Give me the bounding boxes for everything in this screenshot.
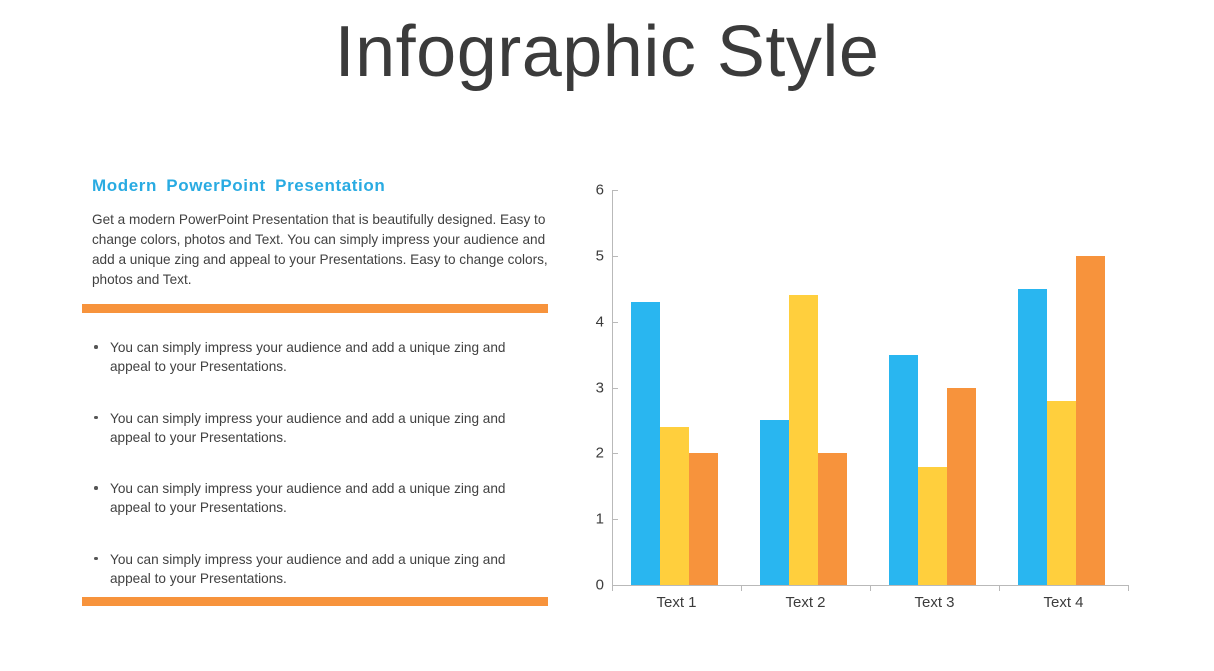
- bar: [947, 388, 976, 586]
- bullet-dot-icon: [94, 416, 98, 420]
- x-axis-label: Text 4: [999, 594, 1128, 611]
- chart-plot-area: [612, 190, 1128, 585]
- section-heading: Modern PowerPoint Presentation: [92, 176, 552, 196]
- bar-group: [631, 190, 718, 585]
- bar-chart: 0123456 Text 1Text 2Text 3Text 4: [580, 176, 1140, 616]
- list-item: You can simply impress your audience and…: [82, 479, 550, 518]
- bar-group: [760, 190, 847, 585]
- y-axis-tick-label: 1: [580, 511, 604, 528]
- bullet-dot-icon: [94, 557, 98, 561]
- bullet-dot-icon: [94, 486, 98, 490]
- list-item-label: You can simply impress your audience and…: [110, 552, 506, 586]
- bar: [689, 453, 718, 585]
- bar-group: [1018, 190, 1105, 585]
- bar: [660, 427, 689, 585]
- bar: [918, 467, 947, 586]
- x-axis-tick: [999, 585, 1000, 591]
- x-axis-tick: [612, 585, 613, 591]
- list-item: You can simply impress your audience and…: [82, 550, 550, 589]
- x-axis-label: Text 2: [741, 594, 870, 611]
- y-axis-tick-label: 5: [580, 247, 604, 264]
- x-axis-tick: [1128, 585, 1129, 591]
- list-item: You can simply impress your audience and…: [82, 338, 550, 377]
- y-axis-tick-label: 4: [580, 313, 604, 330]
- bar: [818, 453, 847, 585]
- list-item-label: You can simply impress your audience and…: [110, 411, 506, 445]
- intro-paragraph: Get a modern PowerPoint Presentation tha…: [92, 210, 554, 289]
- x-axis-tick: [870, 585, 871, 591]
- left-text-column: Modern PowerPoint Presentation Get a mod…: [82, 176, 552, 289]
- bar: [789, 295, 818, 585]
- page-title: Infographic Style: [0, 16, 1214, 88]
- list-item-label: You can simply impress your audience and…: [110, 340, 506, 374]
- divider-bar-bottom: [82, 597, 548, 606]
- x-axis-tick: [741, 585, 742, 591]
- list-item: You can simply impress your audience and…: [82, 409, 550, 448]
- y-axis-tick-label: 2: [580, 445, 604, 462]
- x-axis-label: Text 3: [870, 594, 999, 611]
- y-axis-tick-label: 3: [580, 379, 604, 396]
- bar: [889, 355, 918, 585]
- bar: [1047, 401, 1076, 585]
- divider-bar-top: [82, 304, 548, 313]
- bar: [1076, 256, 1105, 585]
- bar-group: [889, 190, 976, 585]
- bullet-dot-icon: [94, 345, 98, 349]
- x-axis-label: Text 1: [612, 594, 741, 611]
- list-item-label: You can simply impress your audience and…: [110, 481, 506, 515]
- y-axis-tick-label: 0: [580, 577, 604, 594]
- bar: [1018, 289, 1047, 585]
- bar: [760, 420, 789, 585]
- bullet-list: You can simply impress your audience and…: [82, 338, 552, 588]
- y-axis-tick-label: 6: [580, 182, 604, 199]
- bar: [631, 302, 660, 585]
